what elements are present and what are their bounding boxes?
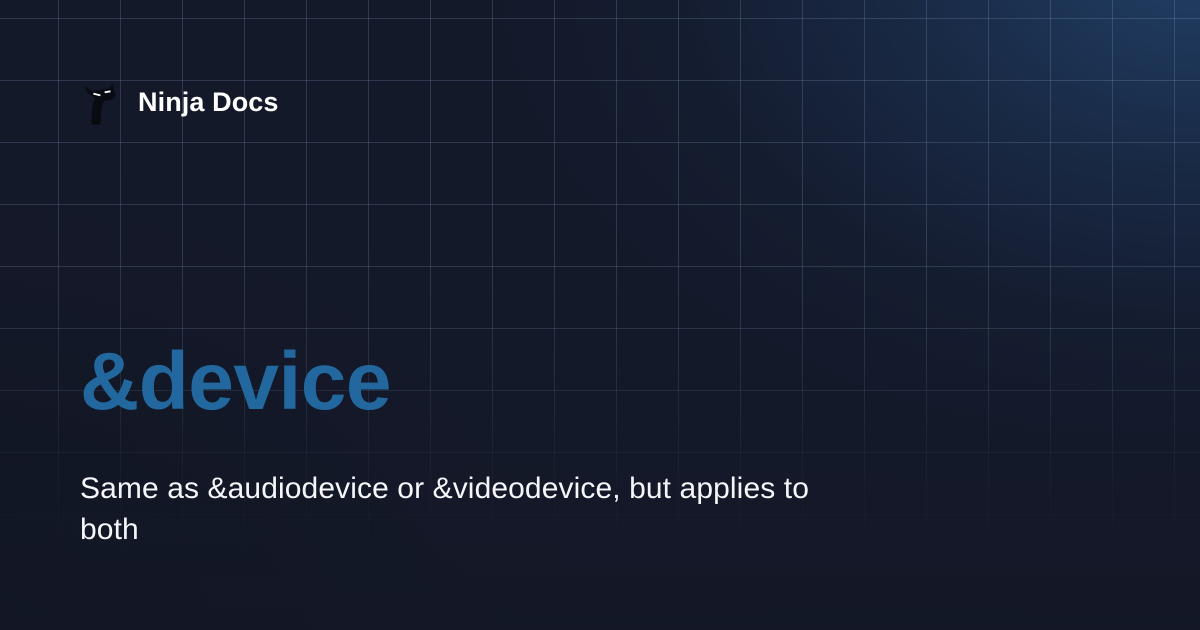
card-content: Ninja Docs &device Same as &audiodevice … (0, 0, 1200, 630)
social-preview-card: Ninja Docs &device Same as &audiodevice … (0, 0, 1200, 630)
brand-name-label: Ninja Docs (138, 89, 279, 116)
brand-header: Ninja Docs (80, 78, 279, 126)
page-description: Same as &audiodevice or &videodevice, bu… (80, 468, 840, 551)
page-title: &device (80, 341, 391, 423)
ninja-cat-icon (80, 79, 122, 125)
